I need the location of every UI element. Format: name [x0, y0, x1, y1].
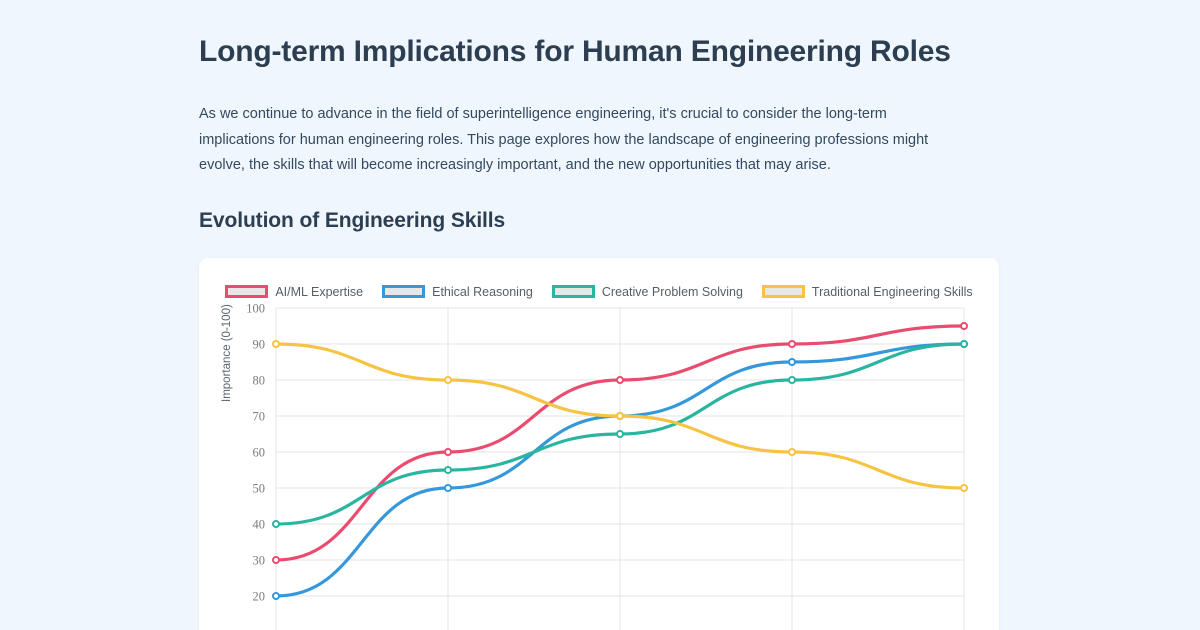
y-tick-label: 60	[253, 445, 266, 459]
y-tick-label: 80	[253, 373, 266, 387]
legend-label-ethical-reasoning: Ethical Reasoning	[432, 285, 533, 299]
legend-item-ai-ml-expertise[interactable]: AI/ML Expertise	[225, 285, 363, 299]
chart-card: AI/ML Expertise Ethical Reasoning Creati…	[199, 258, 999, 630]
legend-label-traditional-engineering-skills: Traditional Engineering Skills	[812, 285, 973, 299]
series-point[interactable]	[617, 377, 623, 383]
legend-label-creative-problem-solving: Creative Problem Solving	[602, 285, 743, 299]
y-tick-label: 100	[246, 302, 265, 316]
series-point[interactable]	[273, 341, 279, 347]
chart-legend: AI/ML Expertise Ethical Reasoning Creati…	[199, 285, 999, 299]
content-column: Long-term Implications for Human Enginee…	[199, 0, 1000, 630]
y-tick-label: 90	[253, 337, 266, 351]
page-root: Long-term Implications for Human Enginee…	[0, 0, 1200, 630]
y-tick-label: 30	[253, 553, 266, 567]
series-point[interactable]	[789, 359, 795, 365]
legend-swatch-traditional-engineering-skills	[762, 285, 805, 298]
series-point[interactable]	[617, 413, 623, 419]
series-point[interactable]	[445, 377, 451, 383]
series-point[interactable]	[961, 341, 967, 347]
legend-swatch-ai-ml-expertise	[225, 285, 268, 298]
legend-item-creative-problem-solving[interactable]: Creative Problem Solving	[552, 285, 743, 299]
legend-item-ethical-reasoning[interactable]: Ethical Reasoning	[382, 285, 533, 299]
y-axis-title: Importance (0-100)	[221, 304, 233, 402]
series-point[interactable]	[273, 557, 279, 563]
series-point[interactable]	[445, 485, 451, 491]
series-point[interactable]	[961, 485, 967, 491]
series-point[interactable]	[273, 521, 279, 527]
legend-swatch-creative-problem-solving	[552, 285, 595, 298]
y-tick-label: 20	[253, 589, 266, 603]
series-point[interactable]	[789, 449, 795, 455]
legend-swatch-ethical-reasoning	[382, 285, 425, 298]
series-point[interactable]	[961, 323, 967, 329]
legend-label-ai-ml-expertise: AI/ML Expertise	[275, 285, 363, 299]
series-point[interactable]	[617, 431, 623, 437]
series-point[interactable]	[445, 467, 451, 473]
series-point[interactable]	[273, 593, 279, 599]
series-point[interactable]	[789, 341, 795, 347]
line-chart-svg[interactable]: 1009080706050403020	[199, 302, 999, 630]
series-point[interactable]	[789, 377, 795, 383]
section-title: Evolution of Engineering Skills	[199, 209, 1000, 233]
legend-item-traditional-engineering-skills[interactable]: Traditional Engineering Skills	[762, 285, 973, 299]
series-point[interactable]	[445, 449, 451, 455]
plot-area: Importance (0-100) 1009080706050403020	[199, 302, 999, 630]
y-tick-label: 40	[253, 517, 266, 531]
y-tick-label: 70	[253, 409, 266, 423]
y-tick-label: 50	[253, 481, 266, 495]
intro-paragraph: As we continue to advance in the field o…	[199, 102, 964, 179]
page-title: Long-term Implications for Human Enginee…	[199, 0, 959, 77]
